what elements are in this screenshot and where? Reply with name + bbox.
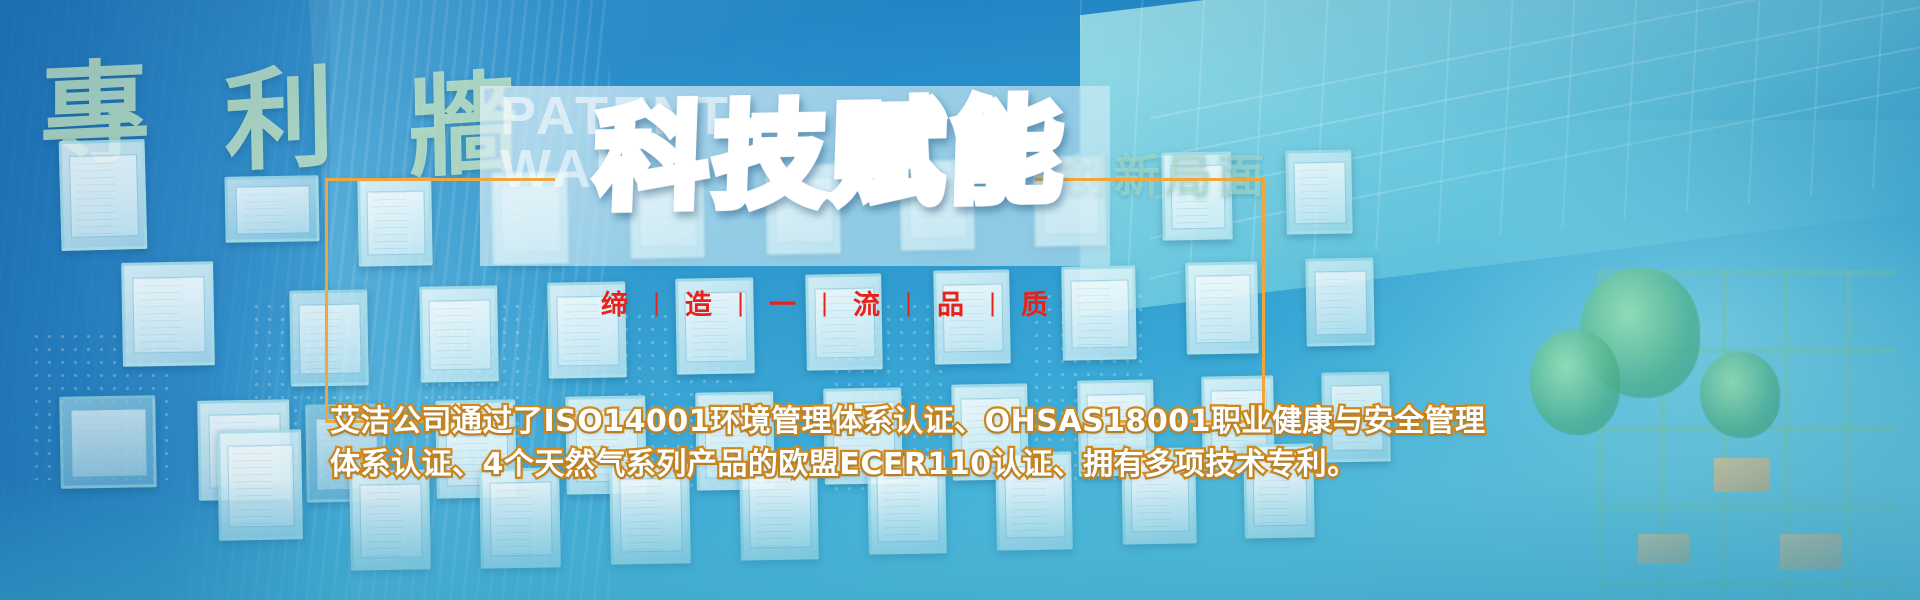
body-line-2: 体系认证、4个天然气系列产品的欧盟ECER110认证、拥有多项技术专利。 <box>330 443 1260 486</box>
subtitle-separator: | <box>974 289 1012 317</box>
body-description: 艾洁公司通过了ISO14001环境管理体系认证、OHSAS18001职业健康与安… <box>330 400 1260 486</box>
subtitle-char-2: 造 <box>676 283 722 322</box>
subtitle-separator: | <box>806 289 844 317</box>
patent-wall-banner: 專 利 牆 <box>0 0 1920 600</box>
page-title: 科技赋能 <box>594 90 1071 221</box>
body-line-1: 艾洁公司通过了ISO14001环境管理体系认证、OHSAS18001职业健康与安… <box>330 400 1260 443</box>
subtitle-char-1: 缔 <box>592 283 638 322</box>
subtitle-separator: | <box>638 289 676 317</box>
subtitle-slogan: 缔 | 造 | 一 | 流 | 品 | 质 <box>592 283 1058 322</box>
subtitle-char-5: 品 <box>928 283 974 322</box>
subtitle-char-3: 一 <box>760 283 806 322</box>
subtitle-char-4: 流 <box>844 283 890 322</box>
subtitle-separator: | <box>722 289 760 317</box>
subtitle-char-6: 质 <box>1012 283 1058 322</box>
subtitle-separator: | <box>890 289 928 317</box>
